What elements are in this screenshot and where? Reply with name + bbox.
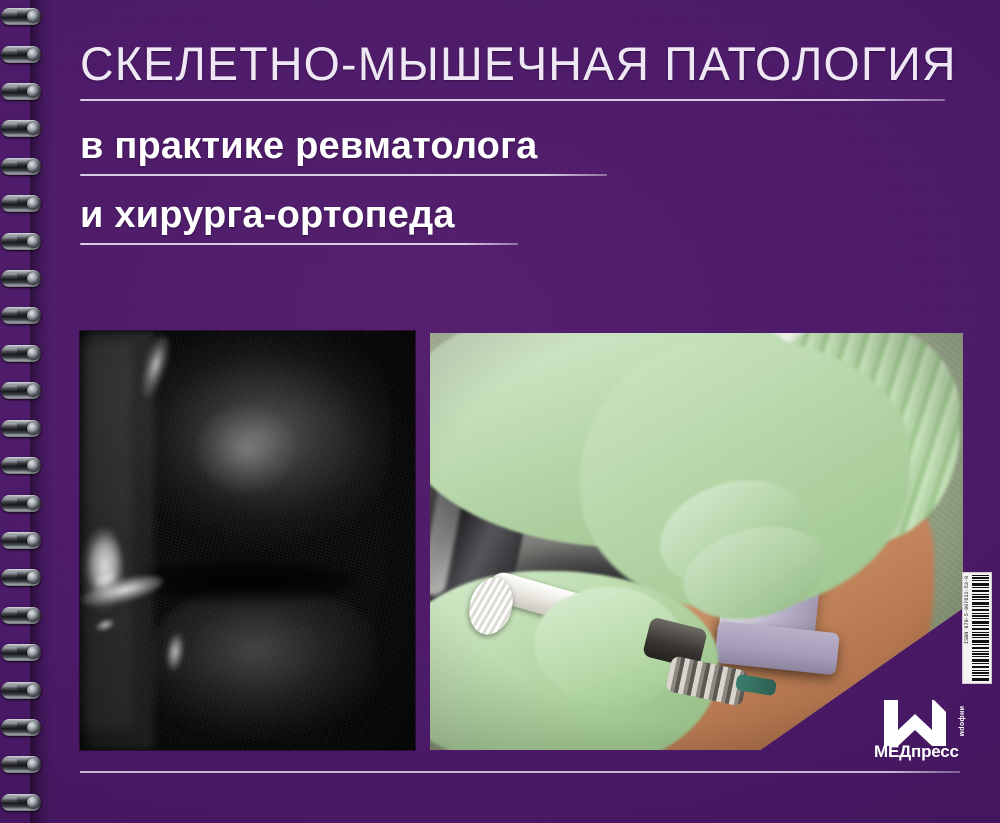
subtitle-underline-1 xyxy=(80,174,607,176)
subtitle-line-2: и хирурга-ортопеда xyxy=(80,196,960,236)
publisher-suffix: информ xyxy=(958,706,965,737)
binding-coil xyxy=(1,233,41,250)
isbn-barcode: ISBN 978-5-907632-53-0 xyxy=(962,572,992,684)
photo-vignette xyxy=(430,333,963,750)
barcode-bars xyxy=(972,575,989,681)
binding-coil xyxy=(1,83,41,100)
isbn-text: ISBN 978-5-907632-53-0 xyxy=(964,575,971,681)
mri-knee-image xyxy=(80,331,415,750)
binding-coil xyxy=(1,8,41,25)
binding-coil xyxy=(1,420,41,437)
binding-coil xyxy=(1,719,41,736)
medpress-m-mark xyxy=(884,700,946,746)
binding-coil xyxy=(1,532,41,549)
spiral-binding xyxy=(0,0,46,823)
binding-coil xyxy=(1,307,41,324)
book-cover: СКЕЛЕТНО-МЫШЕЧНАЯ ПАТОЛОГИЯ в практике р… xyxy=(0,0,1000,823)
title-underline xyxy=(80,99,945,101)
binding-coil xyxy=(1,457,41,474)
publisher-logo: информ МЕДпресс xyxy=(874,700,966,762)
binding-coil xyxy=(1,569,41,586)
binding-coil xyxy=(1,495,41,512)
binding-coil xyxy=(1,682,41,699)
binding-coil xyxy=(1,794,41,811)
publisher-name: МЕДпресс xyxy=(874,742,959,762)
bottom-rule xyxy=(80,771,960,773)
ultrasound-injection-photo xyxy=(430,333,963,750)
binding-coil xyxy=(1,607,41,624)
title-block: СКЕЛЕТНО-МЫШЕЧНАЯ ПАТОЛОГИЯ в практике р… xyxy=(80,40,960,245)
page-title: СКЕЛЕТНО-МЫШЕЧНАЯ ПАТОЛОГИЯ xyxy=(80,40,951,88)
subtitle-underline-2 xyxy=(80,243,518,245)
binding-coil xyxy=(1,345,41,362)
mri-vignette xyxy=(80,331,415,750)
binding-coil xyxy=(1,195,41,212)
binding-coil xyxy=(1,46,41,63)
binding-coil xyxy=(1,270,41,287)
binding-coil xyxy=(1,644,41,661)
binding-coil xyxy=(1,120,41,137)
binding-coil xyxy=(1,756,41,773)
binding-coil xyxy=(1,158,41,175)
binding-coil xyxy=(1,382,41,399)
subtitle-line-1: в практике ревматолога xyxy=(80,127,960,167)
